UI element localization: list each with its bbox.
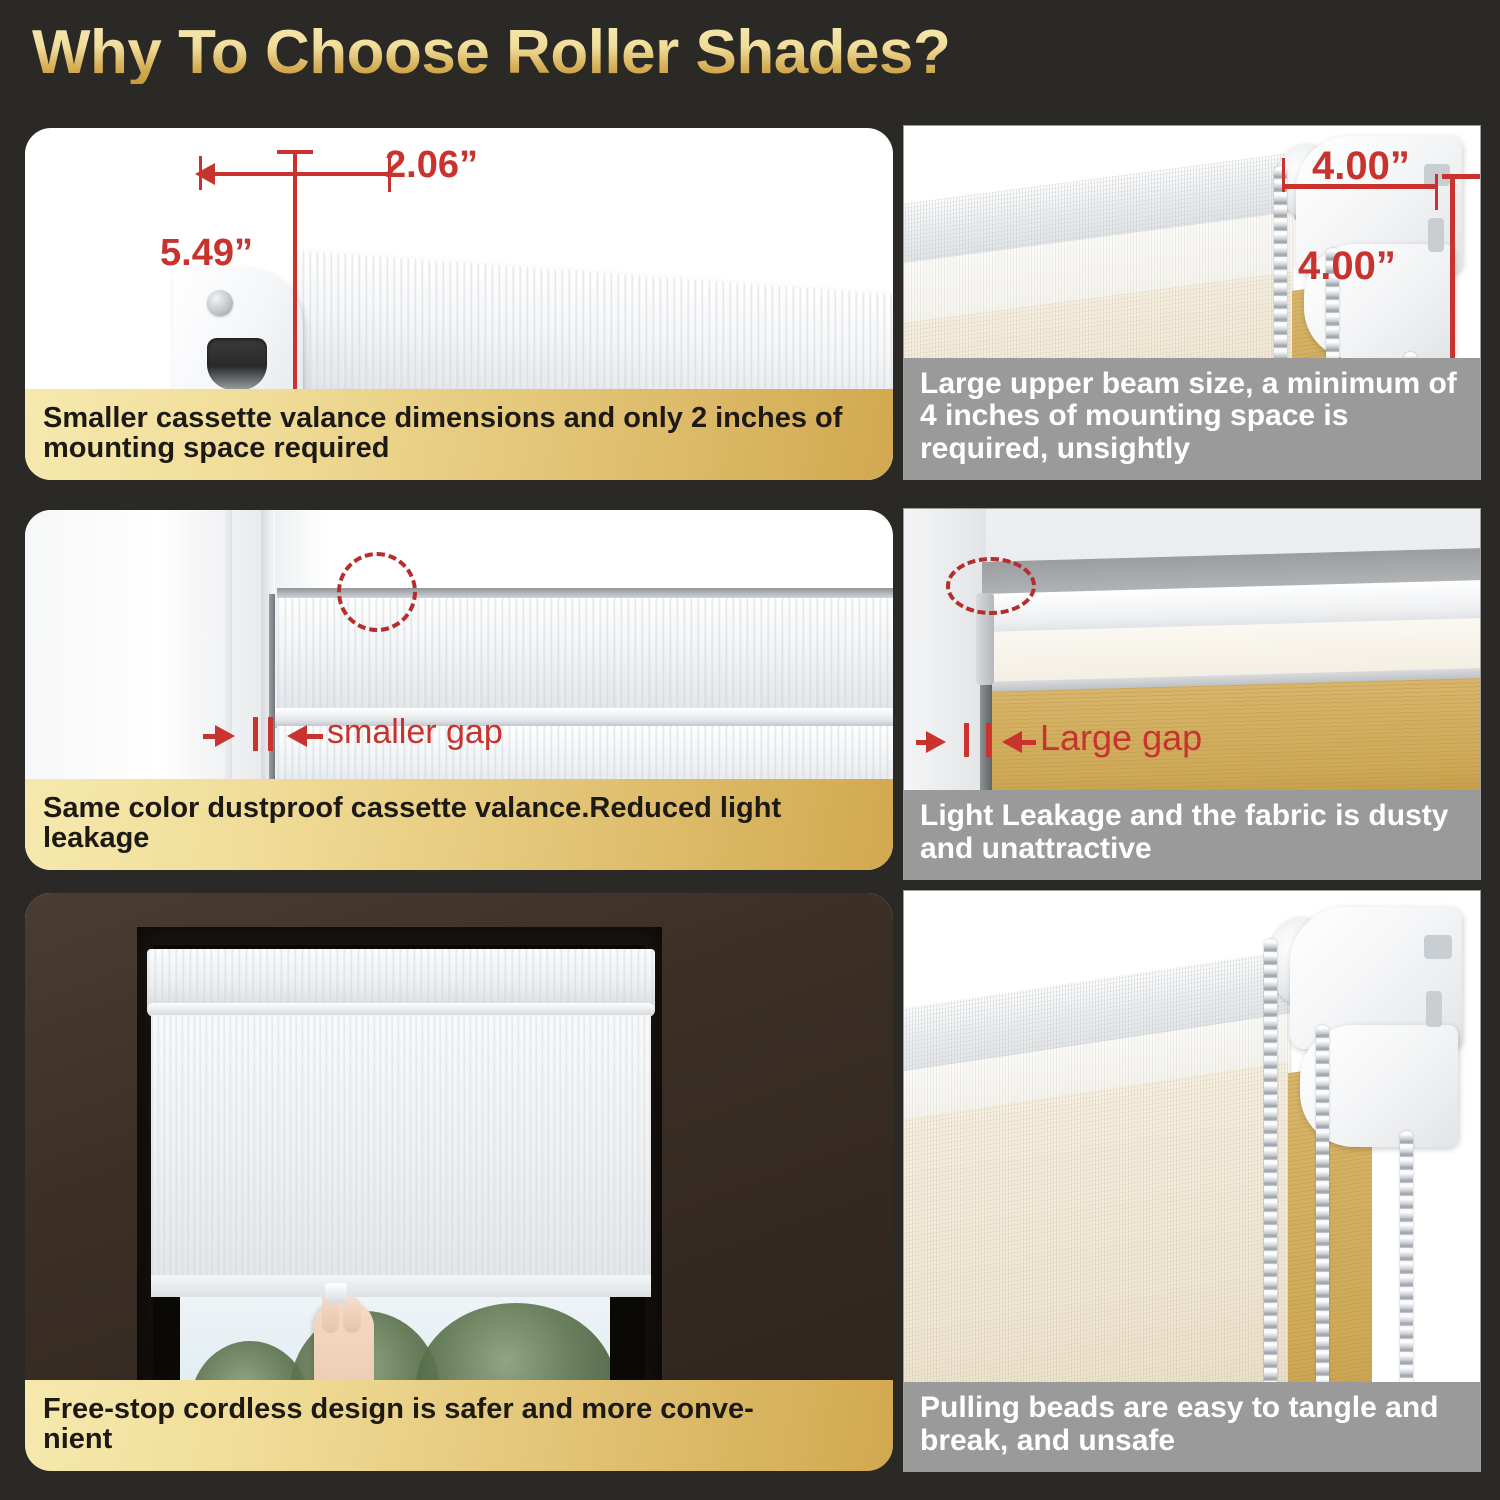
width-dimension-label: 2.06” — [385, 144, 478, 187]
gap-arrow-left-stem — [203, 734, 219, 739]
beam-height-tick-top — [1442, 174, 1480, 179]
caption-smaller-cassette-valance: Smaller cassette valance dimensions and … — [25, 389, 893, 480]
beam-height-dimension-line — [1450, 174, 1455, 372]
gap-arrow-right-stem — [305, 734, 323, 739]
beam-width-tick-left — [1282, 158, 1285, 192]
caption-light-leakage: Light Leakage and the fabric is dusty an… — [904, 790, 1480, 879]
width-dimension-arrow-left — [195, 163, 215, 185]
beam-height-dimension-label: 4.00” — [1298, 244, 1396, 289]
pull-tab — [325, 1283, 347, 1303]
beam-width-dimension-label: 4.00” — [1312, 144, 1410, 189]
height-dimension-line — [293, 150, 297, 372]
caption-free-stop-cordless: Free-stop cordless design is safer and m… — [25, 1380, 893, 1471]
gap-tick-left — [964, 723, 969, 757]
caption-large-upper-beam: Large upper beam size, a minimum of 4 in… — [904, 358, 1480, 479]
large-gap-label: Large gap — [1040, 717, 1202, 759]
width-dimension-tick-left — [199, 156, 202, 190]
gap-arrow-left-stem — [916, 740, 930, 745]
caption-line-1: Free-stop cordless design is safer and m… — [43, 1393, 754, 1425]
bracket-slot-lower — [1428, 218, 1444, 252]
caption-line-2: nient — [43, 1423, 112, 1455]
panel-light-leakage: Large gap Light Leakage and the fabric i… — [903, 508, 1481, 880]
comparison-grid: 2.06” 5.49” Smaller cassette valance dim… — [0, 0, 1500, 1500]
panel-dustproof-cassette-valance: smaller gap Same color dustproof cassett… — [25, 510, 893, 870]
bracket-slot-upper — [1424, 935, 1452, 959]
smaller-gap-label: smaller gap — [327, 713, 503, 752]
valance-screw-top — [207, 290, 233, 316]
panel-smaller-cassette-valance: 2.06” 5.49” Smaller cassette valance dim… — [25, 128, 893, 480]
gap-arrow-right-stem — [1020, 740, 1036, 745]
caption-dustproof-cassette-valance: Same color dustproof cassette valance.Re… — [25, 779, 893, 870]
beam-width-tick-right — [1435, 174, 1438, 210]
caption-pulling-beads: Pulling beads are easy to tangle and bre… — [904, 1382, 1480, 1471]
height-dimension-tick-top — [277, 150, 313, 154]
wall-left — [904, 509, 986, 809]
cassette-headrail — [147, 949, 655, 1009]
gap-highlight-circle — [337, 552, 417, 632]
panel-free-stop-cordless: Free-stop cordless design is safer and m… — [25, 893, 893, 1471]
bracket-slot-lower — [1426, 991, 1442, 1027]
gap-tick-left — [253, 717, 258, 751]
panel-large-upper-beam: 4.00” 4.00” Large upper beam size, a min… — [903, 125, 1481, 480]
gap-highlight-circle — [946, 557, 1036, 615]
roller-shade-fabric — [151, 1015, 651, 1285]
gap-arrow-right — [1002, 731, 1022, 753]
gap-arrow-right — [287, 725, 307, 747]
gap-tick-right — [986, 723, 991, 757]
panel-pulling-beads: Pulling beads are easy to tangle and bre… — [903, 890, 1481, 1472]
height-dimension-label: 5.49” — [160, 232, 253, 275]
valance-slot — [207, 338, 267, 390]
roller-shade-bottom-rail — [151, 1275, 651, 1297]
gap-tick-right — [268, 717, 273, 751]
